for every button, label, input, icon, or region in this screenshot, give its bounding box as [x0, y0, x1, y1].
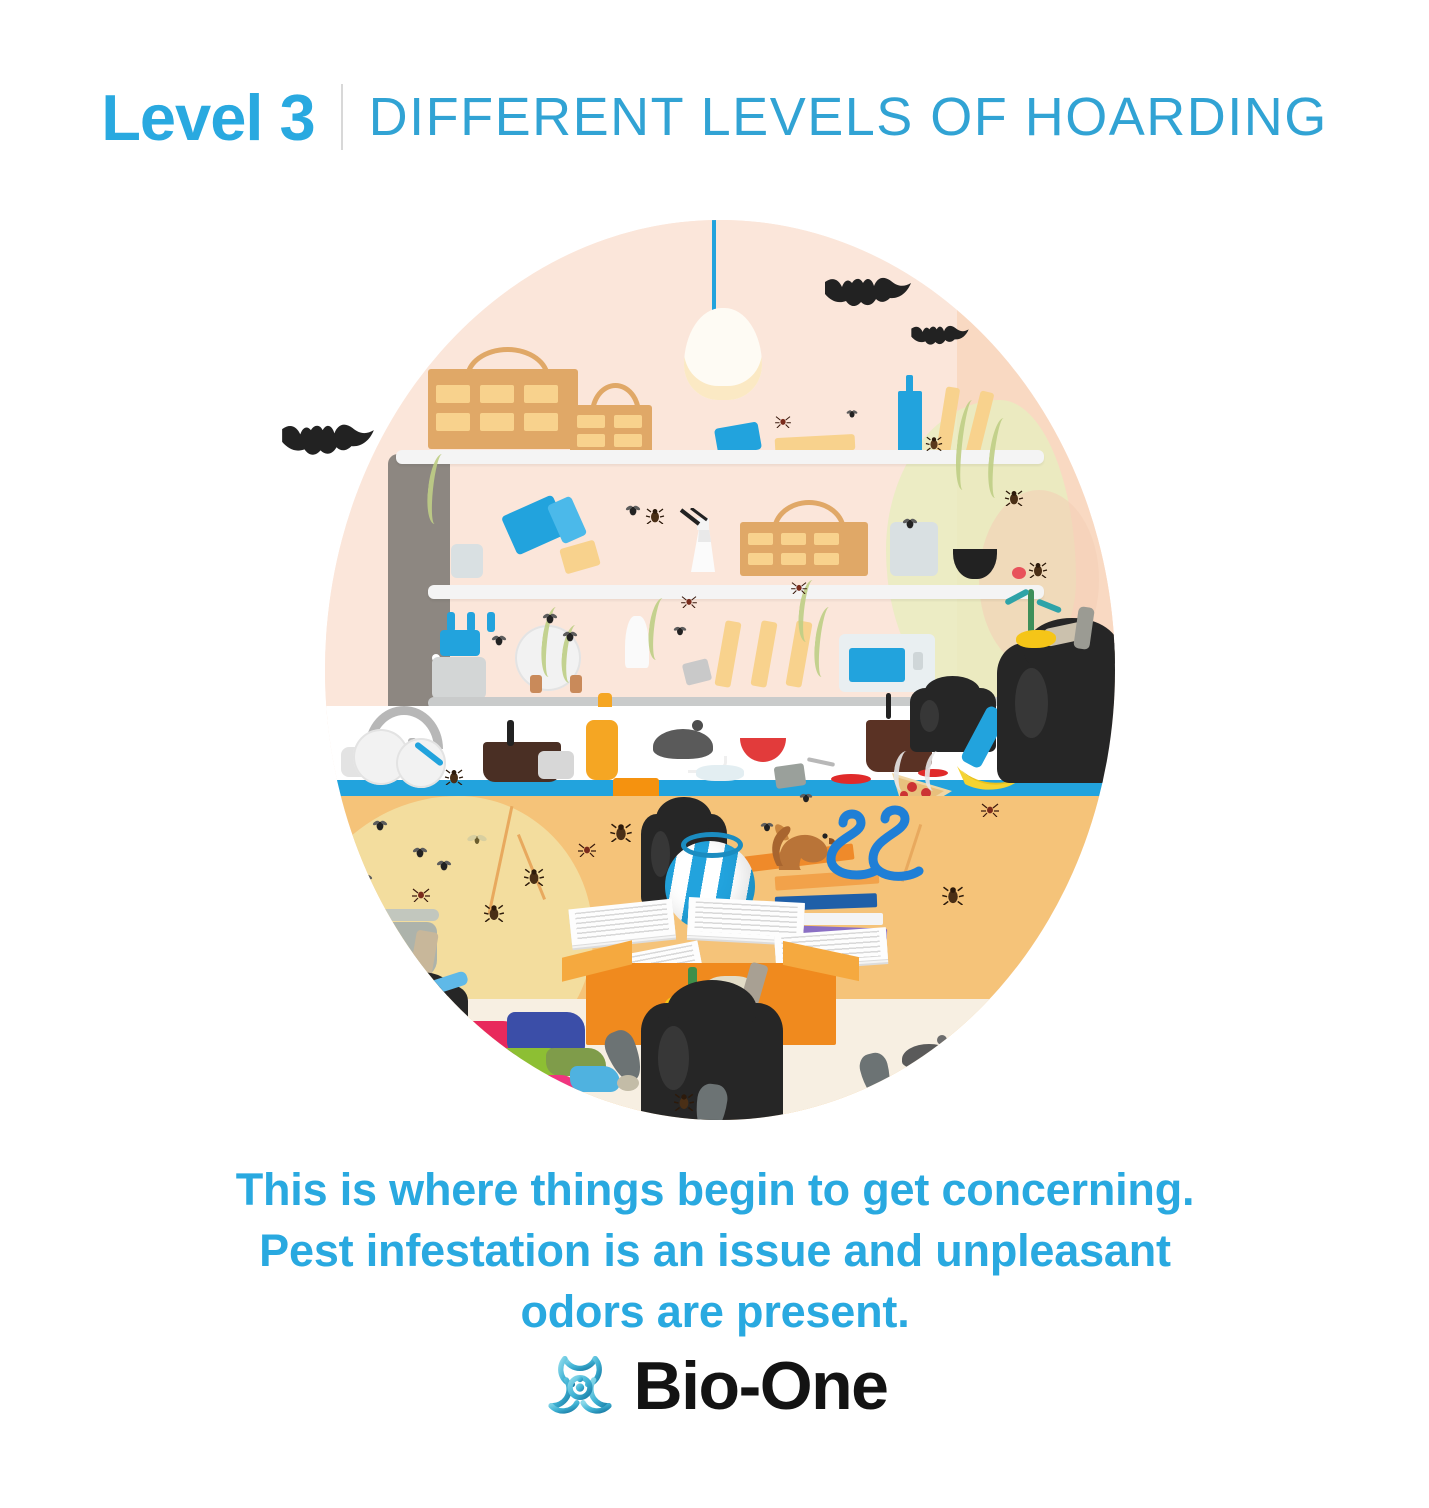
- gray-tin: [451, 544, 483, 578]
- gray-container: [890, 522, 938, 576]
- soap-pump: [598, 693, 612, 707]
- fly-icon: [625, 504, 641, 516]
- fly-icon: [673, 625, 687, 636]
- caption-line-1: This is where things begin to get concer…: [120, 1160, 1310, 1221]
- basket-weave: [814, 553, 839, 565]
- microwave: [839, 634, 935, 692]
- fly-icon: [542, 612, 558, 624]
- basket-weave: [577, 415, 605, 428]
- blue-bottle-neck-a: [447, 612, 455, 632]
- gray-card: [774, 763, 807, 789]
- paper-lines: [695, 901, 799, 937]
- blue-bottles-group: [440, 630, 480, 656]
- cockroach-icon: [609, 823, 633, 842]
- ketchup-spill: [831, 774, 871, 784]
- trash-bag-right-large: [997, 643, 1116, 783]
- shelf-middle: [428, 585, 1044, 599]
- rat-on-counter: [653, 729, 713, 759]
- basket-weave: [748, 553, 773, 565]
- basket-weave: [614, 415, 642, 428]
- header-divider: [341, 84, 343, 150]
- rat-ear: [692, 720, 703, 731]
- basket-weave: [614, 434, 642, 447]
- moth-icon: [1012, 1093, 1032, 1107]
- biohazard-icon: [542, 1348, 618, 1424]
- wicker-basket-small: [570, 405, 652, 457]
- plate-stand: [530, 675, 542, 693]
- plastic-wrap: [696, 765, 744, 781]
- page-title: DIFFERENT LEVELS OF HOARDING: [369, 90, 1328, 144]
- hoarding-illustration: [270, 180, 1170, 1140]
- spider-icon: [412, 886, 430, 902]
- wicker-basket-mid: [740, 522, 868, 576]
- pot-handle: [886, 693, 891, 719]
- spider-icon: [775, 414, 791, 428]
- gray-pan: [538, 751, 574, 779]
- basket-weave: [781, 533, 806, 545]
- blue-hangers: [823, 805, 943, 897]
- blue-bottle: [898, 391, 922, 453]
- basket-weave: [814, 533, 839, 545]
- cockroach-icon: [523, 868, 545, 886]
- blue-bottle-neck-b: [467, 612, 475, 632]
- cockroach-icon: [444, 769, 464, 785]
- caption-line-3: odors are present.: [120, 1282, 1310, 1343]
- soap-bottle: [586, 720, 618, 780]
- basket-weave: [524, 413, 558, 431]
- moth-icon: [467, 832, 487, 846]
- basket-weave: [748, 533, 773, 545]
- trash-bag-highlight: [920, 700, 939, 732]
- level-label: Level 3: [101, 85, 314, 150]
- fly-icon: [436, 859, 452, 871]
- paper-lines: [575, 903, 669, 941]
- spider-icon: [981, 801, 999, 817]
- fly-icon: [799, 792, 813, 803]
- fly-icon: [902, 517, 918, 529]
- fly-icon: [412, 846, 428, 858]
- spider-icon: [578, 841, 596, 857]
- cockroach-icon: [925, 436, 943, 451]
- microwave-knob: [913, 652, 923, 670]
- brand-logo: Bio-One: [0, 1348, 1429, 1424]
- caption-line-2: Pest infestation is an issue and unpleas…: [120, 1221, 1310, 1282]
- mouse-ear: [937, 1035, 947, 1045]
- appliance-body: [432, 657, 486, 699]
- cloth-cyan: [570, 1066, 620, 1092]
- basket-weave: [524, 385, 558, 403]
- trash-bag-highlight: [1015, 668, 1048, 738]
- plant-flower: [1012, 567, 1026, 579]
- fly-icon: [760, 821, 774, 832]
- fly-icon: [357, 873, 373, 885]
- page-header: Level 3 DIFFERENT LEVELS OF HOARDING: [0, 72, 1429, 162]
- trash-bag-highlight: [658, 1026, 689, 1090]
- basket-weave: [577, 434, 605, 447]
- spider-icon: [681, 594, 697, 608]
- white-vase: [625, 616, 649, 668]
- bin-lid: [357, 909, 439, 921]
- basket-weave: [480, 413, 514, 431]
- blue-bucket: [1020, 999, 1090, 1069]
- cockroach-icon: [483, 904, 505, 922]
- basket-weave: [480, 385, 514, 403]
- microwave-window: [849, 648, 905, 682]
- fly-icon: [846, 409, 858, 418]
- shelf-top: [396, 450, 1044, 464]
- spider-icon: [791, 580, 807, 594]
- cockroach-icon: [1028, 562, 1048, 578]
- fly-icon: [562, 630, 578, 642]
- cockroach-icon: [1004, 490, 1024, 506]
- fly-icon: [372, 819, 388, 831]
- trash-peel: [1016, 630, 1056, 648]
- caption: This is where things begin to get concer…: [120, 1160, 1310, 1342]
- blue-bottle-neck-c: [487, 612, 495, 632]
- cockroach-icon: [673, 1093, 695, 1111]
- blue-bucket-rim: [1028, 994, 1074, 1008]
- beach-ball-rim: [681, 832, 743, 858]
- cloth-orange: [467, 1084, 525, 1110]
- cockroach-icon: [941, 886, 965, 905]
- fly-icon: [491, 634, 507, 646]
- utensil-handle: [507, 720, 514, 746]
- cockroach-icon: [645, 508, 665, 524]
- basket-weave: [436, 413, 470, 431]
- basket-weave: [436, 385, 470, 403]
- lamp-cord: [712, 220, 716, 310]
- wicker-basket-large: [428, 369, 578, 449]
- brand-name: Bio-One: [634, 1352, 888, 1420]
- trash-bag-highlight: [384, 998, 405, 1034]
- scene-circle: [325, 220, 1115, 1120]
- basket-weave: [781, 553, 806, 565]
- spray-bottle: [673, 508, 731, 579]
